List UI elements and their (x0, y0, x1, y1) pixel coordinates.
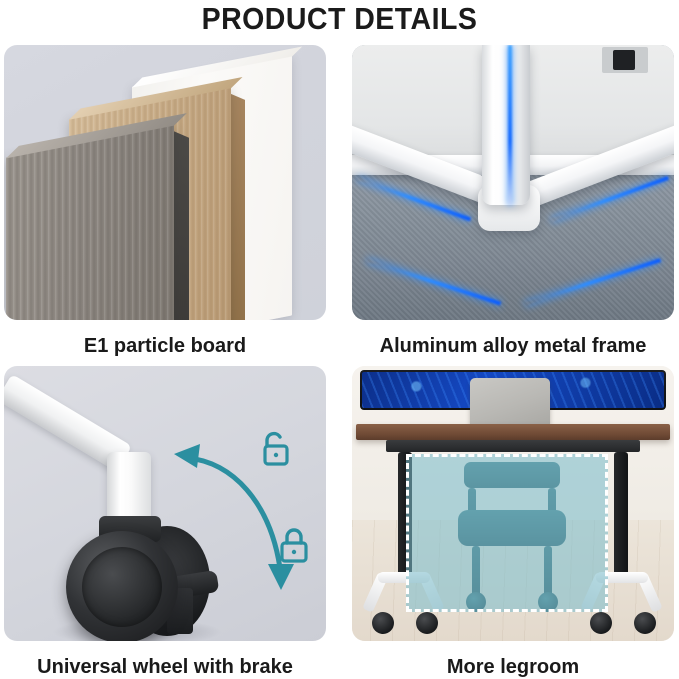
laptop (470, 378, 550, 426)
desk-leg-right (614, 452, 628, 576)
desk-top (356, 424, 670, 440)
unlock-icon (258, 430, 292, 468)
metal-frame-image (352, 45, 674, 320)
gray-board (6, 125, 174, 320)
detail-cell-more-legroom: More legroom (352, 366, 674, 679)
page-title: PRODUCT DETAILS (27, 0, 652, 38)
details-grid: E1 particle board Aluminum (4, 45, 675, 670)
wall-socket (602, 47, 648, 73)
universal-wheel-image (4, 366, 326, 641)
wheel-leg-lower (107, 452, 151, 522)
frame-column (482, 45, 530, 205)
caption-more-legroom: More legroom (352, 655, 674, 679)
wheel-tire (66, 531, 178, 641)
caption-metal-frame: Aluminum alloy metal frame (352, 334, 674, 358)
desk-apron (386, 440, 640, 452)
particle-board-image (4, 45, 326, 320)
caption-universal-wheel: Universal wheel with brake (4, 655, 326, 679)
curved-double-arrow-icon (170, 418, 320, 608)
legroom-highlight-area (406, 454, 608, 612)
detail-cell-universal-wheel: Universal wheel with brake (4, 366, 326, 679)
detail-cell-metal-frame: Aluminum alloy metal frame (352, 45, 674, 358)
detail-cell-particle-board: E1 particle board (4, 45, 326, 358)
product-details-page: PRODUCT DETAILS E1 particle board (0, 0, 679, 673)
more-legroom-image (352, 366, 674, 641)
lock-icon (277, 526, 311, 564)
caption-particle-board: E1 particle board (4, 334, 326, 358)
